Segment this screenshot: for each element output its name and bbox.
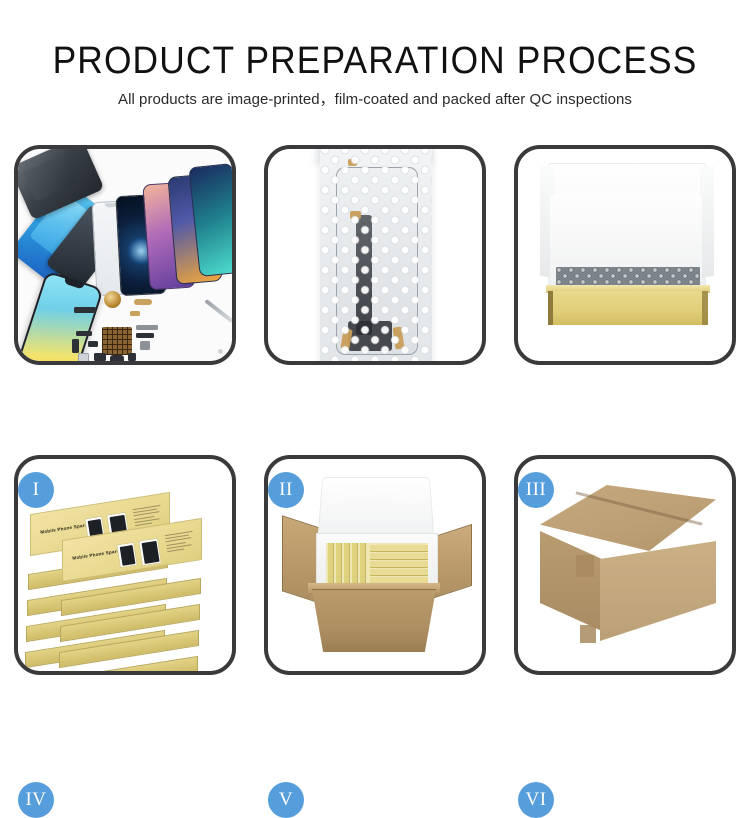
page-subtitle: All products are image-printed，film-coat… [0,88,750,109]
small-part-icon [140,341,150,350]
flex-cable-icon [136,333,154,338]
small-part-icon [72,339,79,353]
open-yellow-box-image [518,149,732,361]
phone-parts-assortment-image [18,149,232,361]
carton-top-face [540,485,716,551]
carton-body-icon [312,589,436,652]
small-part-icon [74,307,96,313]
small-part-icon [94,353,106,361]
speaker-part-icon [110,355,124,361]
box-flap-right-icon [700,166,714,278]
large-phone-icon [18,270,104,361]
copper-coil-icon [104,291,121,308]
header: PRODUCT PREPARATION PROCESS All products… [0,0,750,128]
flex-cable-icon [136,325,158,330]
chip-grid-icon [102,327,132,355]
tape-patch-icon [580,625,596,643]
small-part-icon [76,331,92,336]
box-window-swatch [138,538,162,567]
carton-right-face [600,541,716,641]
step-badge-4: IV [18,782,54,818]
step-badge-6: VI [518,782,554,818]
bubble-wrapped-part-image [268,149,482,361]
screwdriver-icon [204,299,232,323]
yellow-box-front-icon [548,291,708,325]
bubble-texture [320,149,432,361]
screw-icon [218,349,223,354]
process-step-panel-1 [14,145,236,365]
step-badge-2: II [268,472,304,508]
small-part-icon [130,311,140,316]
page-title: PRODUCT PREPARATION PROCESS [26,40,724,83]
tape-patch-icon [576,555,594,577]
small-part-icon [78,353,89,361]
process-step-grid: Mobile Phone Spare Parts Mobile Phone Sp… [0,143,750,688]
small-part-icon [128,353,136,361]
yellow-boxes-inside-icon [326,543,428,585]
box-window-swatch [116,542,138,569]
foam-lid-icon [318,477,435,537]
process-step-panel-3 [514,145,736,365]
process-step-panel-2 [264,145,486,365]
carton-left-face [540,531,602,631]
bubble-wrap-sleeve [320,149,432,361]
step-badge-1: I [18,472,54,508]
screw-icon [226,355,231,360]
screw-icon [216,359,221,361]
step-badge-5: V [268,782,304,818]
small-part-icon [88,341,98,347]
small-part-icon [134,299,152,305]
step-badge-3: III [518,472,554,508]
